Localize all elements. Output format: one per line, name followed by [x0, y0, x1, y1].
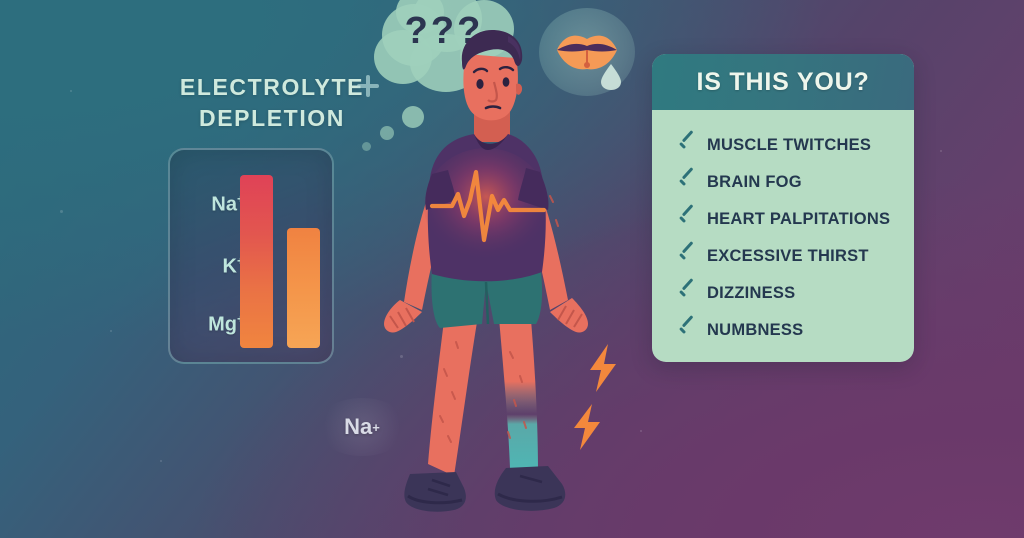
- check-icon: [676, 172, 698, 194]
- sparkle-dot: [160, 460, 162, 462]
- sparkle-dot: [70, 90, 72, 92]
- electrolyte-chart-panel: Na+ K+ Mg+: [168, 148, 334, 364]
- checklist-card-header: IS THIS YOU?: [652, 54, 914, 110]
- title-line-1: ELECTROLYTE: [172, 72, 372, 103]
- chart-label-na: Na+: [182, 192, 244, 217]
- sparkle-dot: [110, 330, 112, 332]
- sparkle-dot: [640, 430, 642, 432]
- title-line-2: DEPLETION: [172, 103, 372, 134]
- pain-lightning-bolt-2: [570, 404, 604, 455]
- checklist-items: MUSCLE TWITCHES BRAIN FOG HEART PALPITAT…: [652, 110, 914, 349]
- check-icon: [676, 135, 698, 157]
- check-icon: [676, 209, 698, 231]
- checklist-item-label: NUMBNESS: [707, 321, 803, 340]
- infographic-canvas: ELECTROLYTE DEPLETION Na+ K+ Mg+ Na+ ???: [0, 0, 1024, 538]
- checklist-item-label: HEART PALPITATIONS: [707, 210, 890, 229]
- check-icon: [676, 283, 698, 305]
- sparkle-dot: [940, 150, 942, 152]
- checklist-item[interactable]: HEART PALPITATIONS: [652, 201, 914, 238]
- checklist-title: IS THIS YOU?: [696, 68, 869, 97]
- checklist-item[interactable]: BRAIN FOG: [652, 164, 914, 201]
- chart-bars: [238, 162, 324, 348]
- checklist-item[interactable]: NUMBNESS: [652, 312, 914, 349]
- checklist-item-label: BRAIN FOG: [707, 173, 802, 192]
- chart-label-k: K+: [182, 254, 244, 279]
- chart-bar-2: [287, 228, 320, 348]
- chart-category-labels: Na+ K+ Mg+: [182, 164, 244, 348]
- checklist-item-label: EXCESSIVE THIRST: [707, 247, 869, 266]
- chart-bar-1: [240, 175, 273, 348]
- pain-lightning-bolt-1: [586, 344, 620, 397]
- checklist-item-label: DIZZINESS: [707, 284, 795, 303]
- check-icon: [676, 246, 698, 268]
- symptom-checklist-card: IS THIS YOU? MUSCLE TWITCHES BRAIN FOG H…: [652, 54, 914, 362]
- checklist-item[interactable]: EXCESSIVE THIRST: [652, 238, 914, 275]
- checklist-item[interactable]: MUSCLE TWITCHES: [652, 127, 914, 164]
- left-panel-title: ELECTROLYTE DEPLETION: [172, 72, 372, 134]
- floating-ion-label: Na: [344, 414, 372, 440]
- chart-label-mg: Mg+: [182, 312, 244, 337]
- checklist-item[interactable]: DIZZINESS: [652, 275, 914, 312]
- checklist-item-label: MUSCLE TWITCHES: [707, 136, 871, 155]
- check-icon: [676, 320, 698, 342]
- sparkle-dot: [60, 210, 63, 213]
